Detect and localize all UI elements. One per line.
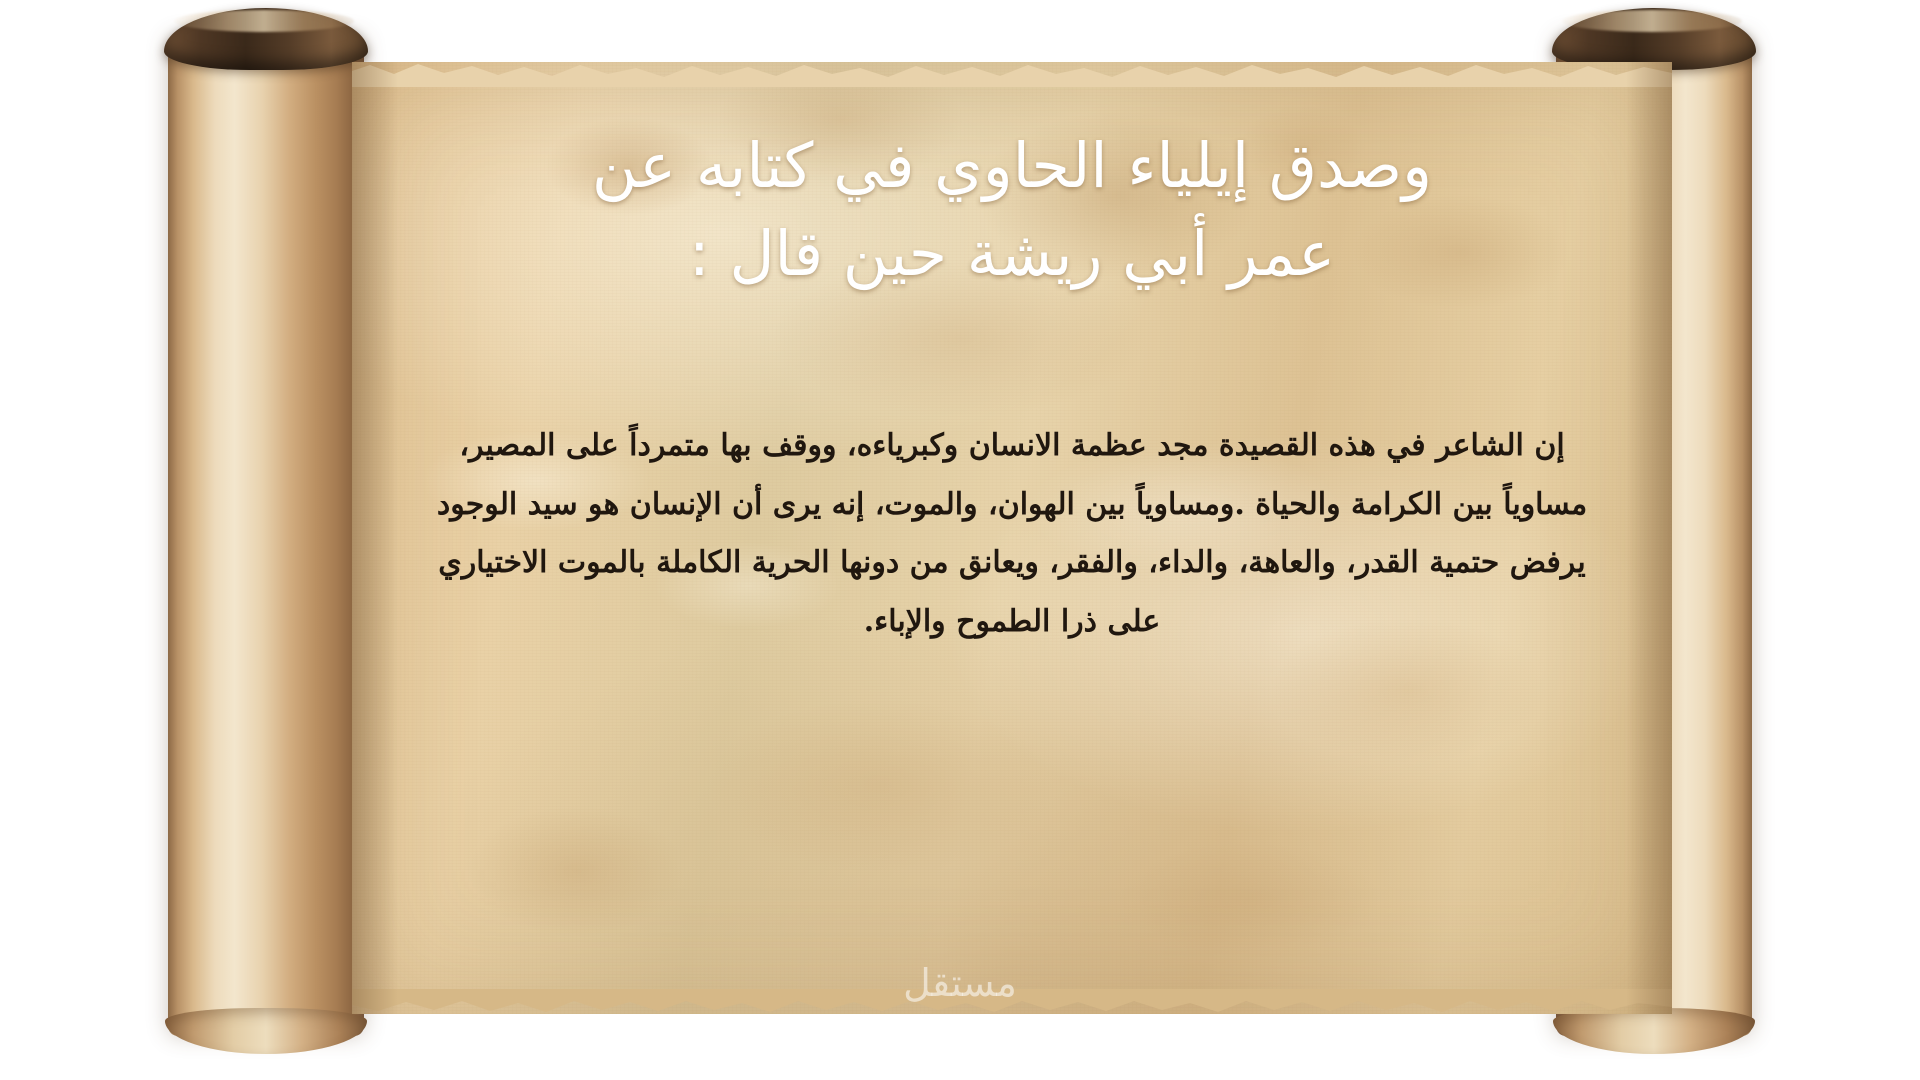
scroll-roll-left-cap-highlight [174,10,354,32]
scroll-roll-right-cap-highlight [1562,10,1742,32]
scroll-roll-left-tube [168,36,364,1036]
scroll-canvas: وصدق إيلياء الحاوي في كتابه عن عمر أبي ر… [0,0,1920,1080]
scroll-roll-left [168,36,364,1036]
scroll-content: وصدق إيلياء الحاوي في كتابه عن عمر أبي ر… [368,62,1656,1014]
quote-title-line-2: عمر أبي ريشة حين قال : [392,210,1632,298]
quote-title: وصدق إيلياء الحاوي في كتابه عن عمر أبي ر… [368,122,1656,298]
quote-body-paragraph: إن الشاعر في هذه القصيدة مجد عظمة الانسا… [368,417,1656,651]
scroll-roll-left-bottom [165,1008,367,1054]
quote-title-line-1: وصدق إيلياء الحاوي في كتابه عن [392,122,1632,210]
scroll-roll-right-bottom [1553,1008,1755,1054]
